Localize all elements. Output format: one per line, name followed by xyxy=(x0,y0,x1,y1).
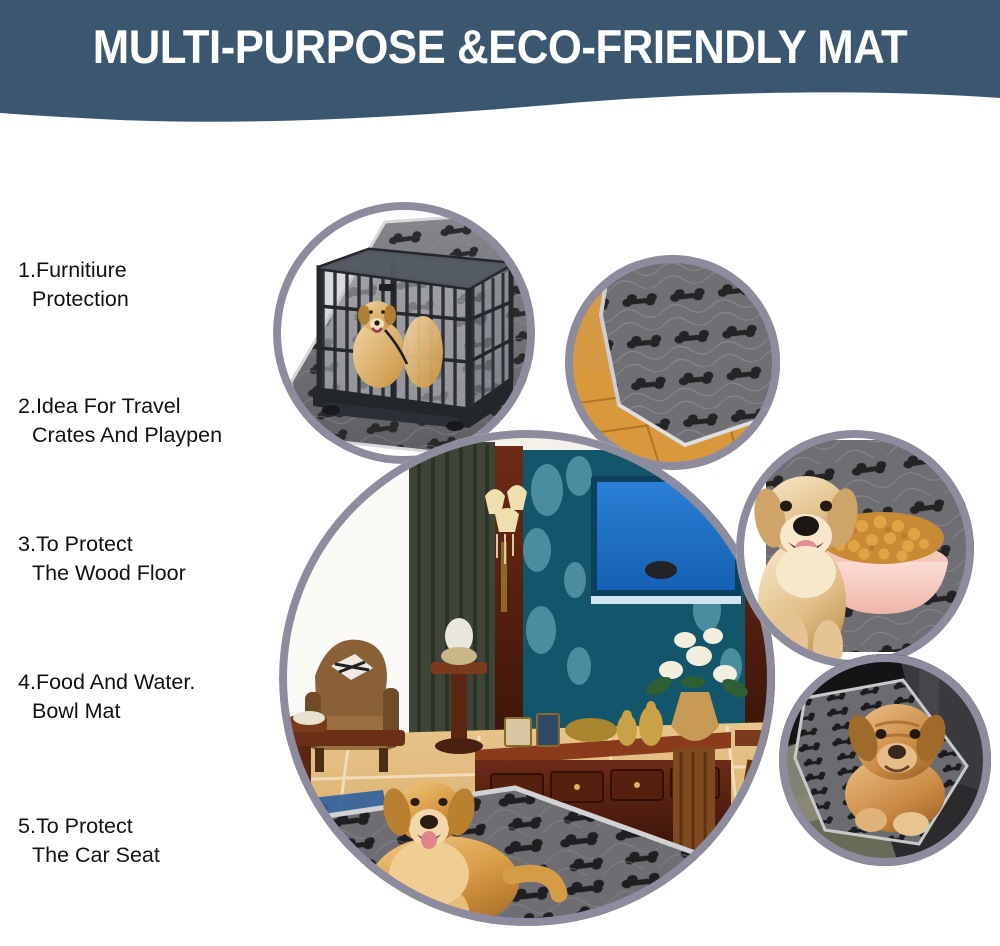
page-title: MULTI-PURPOSE &ECO-FRIENDLY MAT xyxy=(35,21,965,73)
photo-collage xyxy=(0,150,1000,946)
product-infographic: MULTI-PURPOSE &ECO-FRIENDLY MAT 1.Furnit… xyxy=(0,0,1000,946)
photo-crate-scene xyxy=(273,202,535,464)
photo-living-room xyxy=(279,430,775,926)
crate-graphic xyxy=(313,250,513,431)
photo-food-bowl-scene xyxy=(736,430,974,668)
photo-living-room-scene xyxy=(279,430,775,926)
photo-crate xyxy=(273,202,535,464)
photo-car-seat xyxy=(779,654,991,866)
header-banner: MULTI-PURPOSE &ECO-FRIENDLY MAT xyxy=(0,0,1000,140)
photo-car-seat-scene xyxy=(779,654,991,866)
photo-food-bowl xyxy=(736,430,974,668)
